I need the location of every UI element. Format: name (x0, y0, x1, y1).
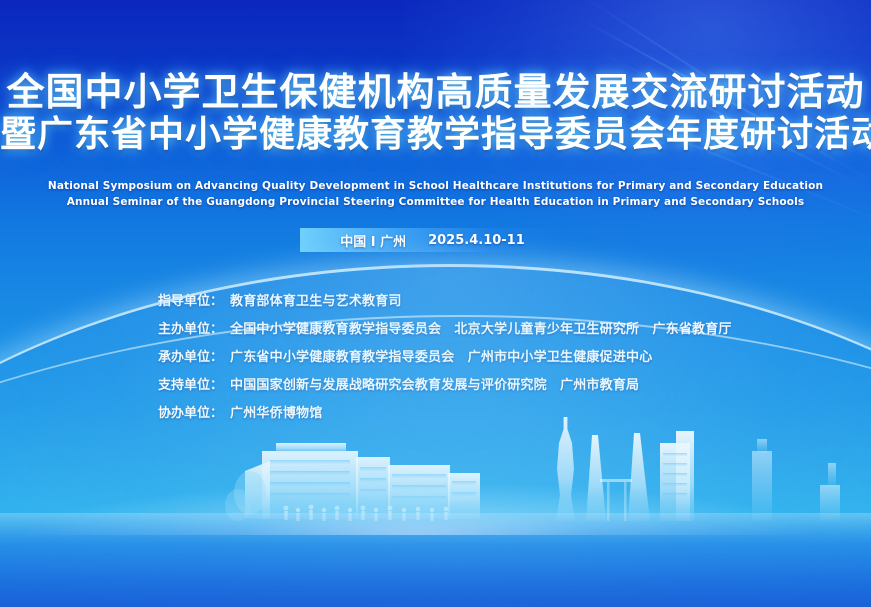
poster-subtitle: National Symposium on Advancing Quality … (0, 178, 871, 211)
poster-title: 全国中小学卫生保健机构高质量发展交流研讨活动 暨广东省中小学健康教育教学指导委员… (0, 72, 871, 154)
organizer-label: 主办单位： (158, 318, 223, 337)
organizer-value: 广东省中小学健康教育教学指导委员会 广州市中小学卫生健康促进中心 (230, 346, 652, 365)
venue-location: 中国 I 广州 (340, 231, 406, 250)
organizer-value: 中国国家创新与发展战略研究会教育发展与评价研究院 广州市教育局 (230, 374, 639, 393)
school-building-icon (225, 443, 480, 521)
organizer-value: 教育部体育卫生与艺术教育司 (230, 290, 402, 309)
organizer-list: 指导单位： 教育部体育卫生与艺术教育司 主办单位： 全国中小学健康教育教学指导委… (158, 290, 732, 430)
city-skyline-illustration (0, 413, 871, 543)
title-line-2: 暨广东省中小学健康教育教学指导委员会年度研讨活动 (0, 116, 871, 154)
venue-date-bar: 中国 I 广州 2025.4.10-11 (300, 228, 565, 252)
organizer-label: 指导单位： (158, 290, 223, 309)
organizer-row: 主办单位： 全国中小学健康教育教学指导委员会 北京大学儿童青少年卫生研究所 广东… (158, 318, 732, 337)
organizer-row: 承办单位： 广东省中小学健康教育教学指导委员会 广州市中小学卫生健康促进中心 (158, 346, 732, 365)
stepped-tower-icon (660, 431, 694, 521)
conference-poster: 全国中小学卫生保健机构高质量发展交流研讨活动 暨广东省中小学健康教育教学指导委员… (0, 0, 871, 607)
organizer-label: 支持单位： (158, 374, 223, 393)
event-date: 2025.4.10-11 (428, 233, 525, 248)
twin-towers-icon (586, 433, 650, 521)
subtitle-line-2: Annual Seminar of the Guangdong Provinci… (0, 194, 871, 210)
organizer-label: 承办单位： (158, 346, 223, 365)
organizer-value: 全国中小学健康教育教学指导委员会 北京大学儿童青少年卫生研究所 广东省教育厅 (230, 318, 732, 337)
organizer-row: 指导单位： 教育部体育卫生与艺术教育司 (158, 290, 732, 309)
subtitle-line-1: National Symposium on Advancing Quality … (0, 178, 871, 194)
organizer-row: 支持单位： 中国国家创新与发展战略研究会教育发展与评价研究院 广州市教育局 (158, 374, 732, 393)
distant-towers-icon (752, 439, 840, 521)
canton-tower-icon (556, 417, 575, 521)
title-line-1: 全国中小学卫生保健机构高质量发展交流研讨活动 (0, 72, 871, 112)
